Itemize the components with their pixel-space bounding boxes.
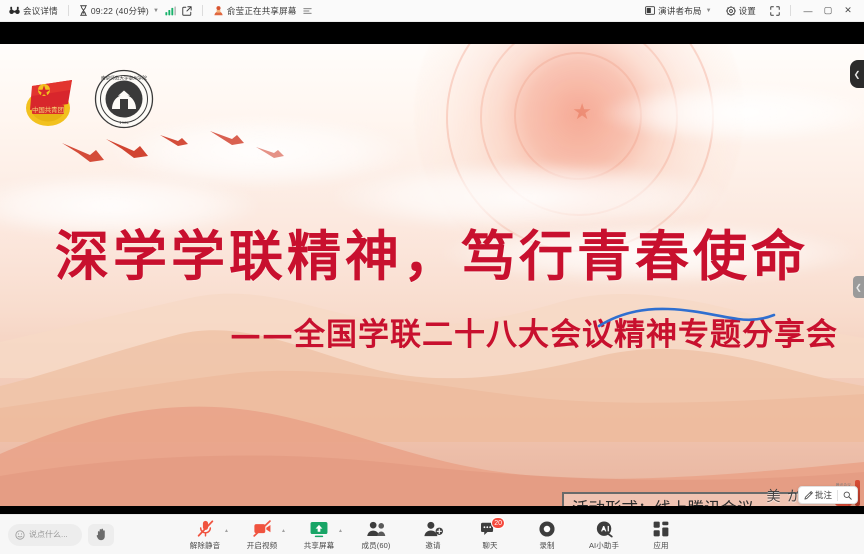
- university-emblem: 南京师范大学泰州学院 1902: [94, 69, 154, 129]
- chevron-down-icon: ▼: [153, 8, 159, 14]
- raise-hand-icon: [95, 528, 107, 541]
- meeting-info-button[interactable]: 会议详情: [6, 4, 61, 18]
- layout-icon: [645, 6, 655, 15]
- raise-hand-button[interactable]: [88, 524, 114, 546]
- collapse-panel-tab[interactable]: ❮: [850, 60, 864, 88]
- fullscreen-button[interactable]: [767, 5, 783, 17]
- record-label: 录制: [539, 540, 554, 551]
- unmute-label: 解除静音: [190, 540, 220, 551]
- pop-out-icon: [182, 6, 192, 16]
- communist-youth-league-emblem: 中国共青团: [18, 68, 82, 130]
- share-screen-button[interactable]: ▲ 共享屏幕: [297, 519, 341, 551]
- presentation-slide: ★: [0, 44, 864, 506]
- chat-button[interactable]: 20 聊天: [468, 519, 512, 551]
- gear-icon: [726, 6, 736, 16]
- members-label: 成员(60): [362, 540, 391, 551]
- meeting-timer[interactable]: 09:22 (40分钟) ▼: [76, 4, 162, 18]
- person-sharing-icon: [213, 5, 224, 16]
- tencent-meeting-window: 会议详情 09:22 (40分钟) ▼: [0, 0, 864, 554]
- letterbox-top: [0, 22, 864, 44]
- chat-unread-badge: 20: [491, 517, 505, 529]
- svg-text:中国共青团: 中国共青团: [32, 105, 64, 114]
- network-status-button[interactable]: [162, 5, 179, 17]
- meeting-timer-label: 09:22 (40分钟): [91, 5, 149, 17]
- sun-star-icon: ★: [572, 101, 592, 123]
- chat-label: 聊天: [482, 540, 497, 551]
- divider: [202, 5, 203, 16]
- layout-label: 演讲者布局: [658, 5, 702, 17]
- smiley-icon: [15, 530, 25, 540]
- zoom-button[interactable]: [838, 487, 857, 503]
- annotate-label: 批注: [815, 489, 832, 501]
- signal-bars-icon: [165, 6, 176, 16]
- meeting-controls: ▲ 解除静音 ▲ 开启视频: [114, 519, 752, 551]
- chevron-up-icon[interactable]: ▲: [338, 528, 343, 534]
- members-icon: [366, 519, 387, 538]
- chevron-up-icon[interactable]: ▲: [224, 528, 229, 534]
- apps-label: 应用: [653, 540, 668, 551]
- members-button[interactable]: 成员(60): [354, 519, 398, 551]
- divider: [68, 5, 69, 16]
- maximize-button[interactable]: ▢: [818, 2, 838, 20]
- settings-label: 设置: [739, 5, 756, 17]
- chevron-left-icon: ❮: [854, 70, 861, 79]
- chevron-up-icon[interactable]: ▲: [281, 528, 286, 534]
- apps-grid-icon: [652, 519, 670, 538]
- chevron-left-icon: ❮: [855, 283, 862, 292]
- chevron-down-icon: ▼: [706, 8, 712, 14]
- quick-chat-placeholder: 说点什么...: [29, 529, 68, 540]
- start-video-button[interactable]: ▲ 开启视频: [240, 519, 284, 551]
- apps-button[interactable]: 应用: [639, 519, 683, 551]
- cloud-4: [600, 84, 864, 142]
- layout-selector[interactable]: 演讲者布局 ▼: [642, 4, 714, 18]
- magnifier-icon: [843, 491, 852, 500]
- svg-text:1902: 1902: [119, 120, 129, 125]
- minimize-button[interactable]: —: [798, 2, 818, 20]
- more-lines-icon[interactable]: [303, 7, 312, 15]
- popout-window-button[interactable]: [179, 5, 195, 17]
- mic-muted-icon: [196, 519, 215, 538]
- fullscreen-icon: [770, 6, 780, 16]
- quick-chat-input[interactable]: 说点什么...: [8, 524, 82, 546]
- share-screen-label: 共享屏幕: [304, 540, 334, 551]
- slide-logos: 中国共青团 南京师范大学泰州学院 1902: [18, 68, 154, 130]
- sharing-status-label: 俞莹正在共享屏幕: [227, 5, 297, 17]
- binoculars-icon: [9, 6, 20, 15]
- svg-text:南京师范大学泰州学院: 南京师范大学泰州学院: [101, 74, 147, 81]
- video-muted-icon: [252, 519, 273, 538]
- pencil-icon: [804, 491, 813, 500]
- hourglass-icon: [79, 5, 88, 16]
- ai-assistant-button[interactable]: AI小助手: [582, 519, 626, 551]
- side-drawer-tab[interactable]: ❮: [853, 276, 864, 298]
- unmute-button[interactable]: ▲ 解除静音: [183, 519, 227, 551]
- invite-button[interactable]: 邀请: [411, 519, 455, 551]
- top-bar: 会议详情 09:22 (40分钟) ▼: [0, 0, 864, 22]
- divider: [790, 5, 791, 16]
- bottom-toolbar: 说点什么... ▲ 解除静音: [0, 514, 864, 554]
- record-button[interactable]: 录制: [525, 519, 569, 551]
- record-icon: [538, 519, 556, 538]
- ai-assistant-label: AI小助手: [589, 540, 619, 551]
- meeting-info-label: 会议详情: [23, 5, 58, 17]
- settings-button[interactable]: 设置: [723, 4, 759, 18]
- letterbox-bottom: [0, 506, 864, 514]
- flying-birds-graphic: [60, 129, 290, 179]
- share-screen-icon: [309, 519, 329, 538]
- slide-headline: 深学学联精神，笃行青春使命: [0, 212, 864, 291]
- start-video-label: 开启视频: [247, 540, 277, 551]
- close-button[interactable]: ✕: [838, 2, 858, 20]
- invite-label: 邀请: [425, 540, 440, 551]
- ai-assistant-icon: [595, 519, 614, 538]
- shared-screen-stage: ★: [0, 22, 864, 514]
- slide-subheadline: ——全国学联二十八大会议精神专题分享会: [0, 309, 864, 354]
- sharing-status[interactable]: 俞莹正在共享屏幕: [210, 4, 315, 18]
- annotation-toolbar: 批注: [798, 486, 858, 504]
- annotate-button[interactable]: 批注: [799, 487, 837, 503]
- invite-icon: [423, 519, 444, 538]
